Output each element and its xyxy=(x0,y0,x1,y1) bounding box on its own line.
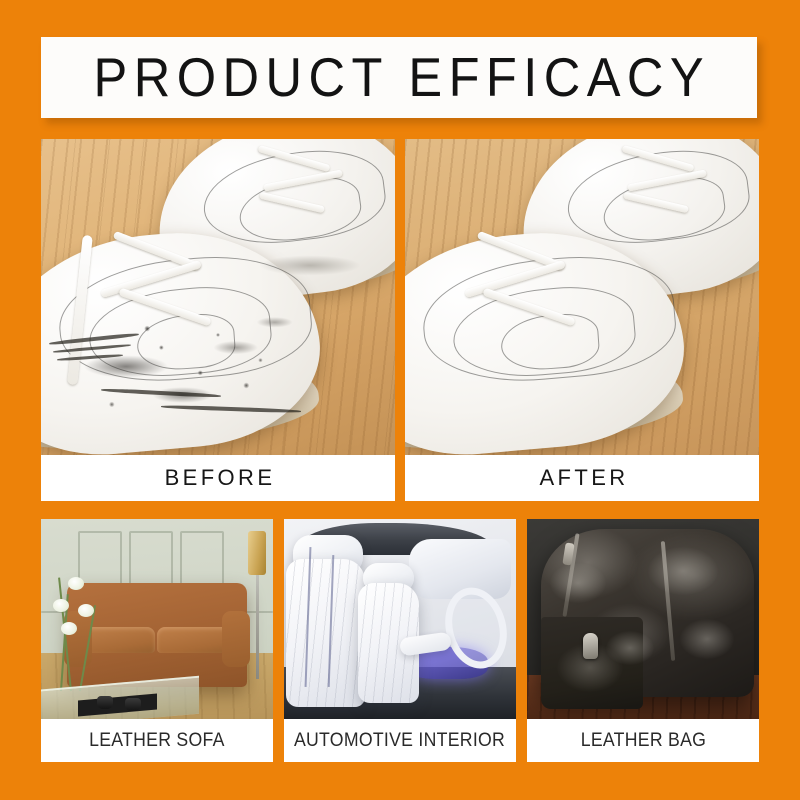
page-title: PRODUCT EFFICACY xyxy=(87,50,710,105)
leather-bag-photo xyxy=(527,519,759,719)
flower-vase xyxy=(43,567,99,691)
leather-wear-patch xyxy=(680,619,734,659)
before-card: BEFORE xyxy=(41,139,395,501)
automotive-interior-label: AUTOMOTIVE INTERIOR xyxy=(294,730,505,752)
leather-sofa-caption-bar: LEATHER SOFA xyxy=(41,719,273,762)
automotive-interior-caption-bar: AUTOMOTIVE INTERIOR xyxy=(284,719,516,762)
leather-wear-patch xyxy=(550,563,606,603)
product-efficacy-poster: PRODUCT EFFICACY xyxy=(0,0,800,800)
leather-wear-patch xyxy=(648,547,718,595)
leather-bag-card: LEATHER BAG xyxy=(527,519,759,762)
flower-stem xyxy=(79,605,96,691)
title-banner: PRODUCT EFFICACY xyxy=(41,37,757,118)
leather-sofa-photo xyxy=(41,519,273,719)
leather-sofa-card: LEATHER SOFA xyxy=(41,519,273,762)
leather-bag-caption-bar: LEATHER BAG xyxy=(527,719,759,762)
after-label: AFTER xyxy=(535,465,628,491)
flower-bloom xyxy=(61,622,77,635)
leather-wear-patch xyxy=(606,631,654,665)
before-label: BEFORE xyxy=(161,465,276,491)
before-caption-bar: BEFORE xyxy=(41,455,395,501)
flower-bloom xyxy=(68,577,84,590)
cup xyxy=(125,698,141,711)
automotive-interior-photo xyxy=(284,519,516,719)
sofa-arm xyxy=(222,611,250,667)
floor-lamp-pole xyxy=(256,575,259,679)
clean-white-sneakers-photo xyxy=(405,139,759,455)
cup xyxy=(97,696,113,709)
before-after-row: BEFORE xyxy=(41,139,759,501)
dirty-white-sneakers-photo xyxy=(41,139,395,455)
floor-lamp-shade xyxy=(248,531,267,575)
after-card: AFTER xyxy=(405,139,759,501)
after-caption-bar: AFTER xyxy=(405,455,759,501)
automotive-interior-card: AUTOMOTIVE INTERIOR xyxy=(284,519,516,762)
metal-clasp xyxy=(583,633,598,659)
use-cases-row: LEATHER SOFA AUTOMOTIVE INT xyxy=(41,519,759,762)
flower-bloom xyxy=(78,604,94,617)
leather-bag-label: LEATHER BAG xyxy=(580,730,705,752)
front-seat xyxy=(286,559,365,707)
leather-sofa-label: LEATHER SOFA xyxy=(89,730,225,752)
